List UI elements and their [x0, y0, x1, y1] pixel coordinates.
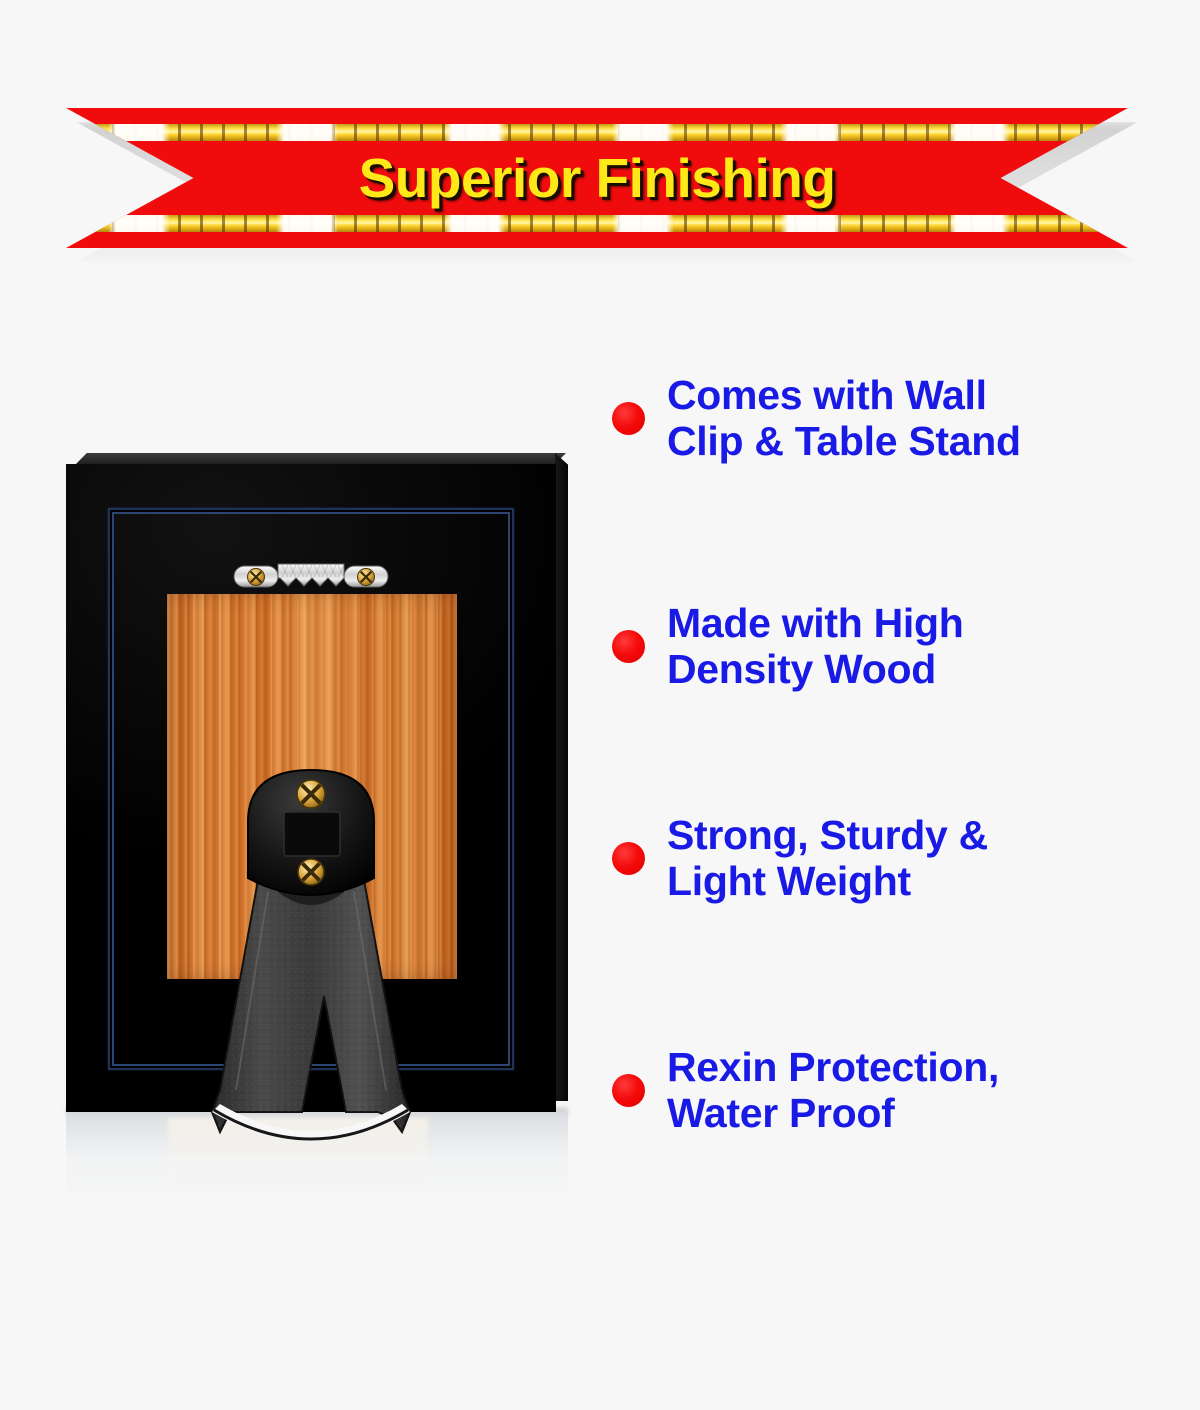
- feature-text: Strong, Sturdy & Light Weight: [667, 812, 988, 905]
- product-image: [48, 436, 608, 1226]
- list-item: Comes with Wall Clip & Table Stand: [612, 372, 1188, 465]
- feature-line-2: Light Weight: [667, 858, 911, 904]
- feature-line-1: Made with High: [667, 600, 963, 646]
- plaque-front-face: [66, 464, 556, 1112]
- wall-clip-icon: [232, 560, 390, 594]
- list-item: Made with High Density Wood: [612, 600, 1188, 693]
- banner-title: Superior Finishing: [66, 108, 1128, 248]
- list-item: Strong, Sturdy & Light Weight: [612, 812, 1188, 905]
- feature-line-1: Comes with Wall: [667, 372, 987, 418]
- feature-line-1: Strong, Sturdy &: [667, 812, 988, 858]
- feature-line-2: Water Proof: [667, 1090, 895, 1136]
- bullet-icon: [612, 842, 645, 875]
- bullet-icon: [612, 630, 645, 663]
- feature-line-2: Clip & Table Stand: [667, 418, 1021, 464]
- list-item: Rexin Protection, Water Proof: [612, 1044, 1188, 1137]
- bullet-icon: [612, 402, 645, 435]
- feature-line-1: Rexin Protection,: [667, 1044, 999, 1090]
- award-plaque: [66, 464, 566, 1112]
- feature-line-2: Density Wood: [667, 646, 936, 692]
- page-canvas: Superior Finishing: [0, 0, 1200, 1410]
- table-stand-icon: [196, 760, 426, 1230]
- banner-ribbon: Superior Finishing: [66, 108, 1128, 248]
- feature-text: Made with High Density Wood: [667, 600, 963, 693]
- feature-text: Rexin Protection, Water Proof: [667, 1044, 999, 1137]
- bullet-icon: [612, 1074, 645, 1107]
- feature-text: Comes with Wall Clip & Table Stand: [667, 372, 1021, 465]
- banner: Superior Finishing: [66, 108, 1138, 263]
- plaque-side-bevel: [555, 453, 568, 1101]
